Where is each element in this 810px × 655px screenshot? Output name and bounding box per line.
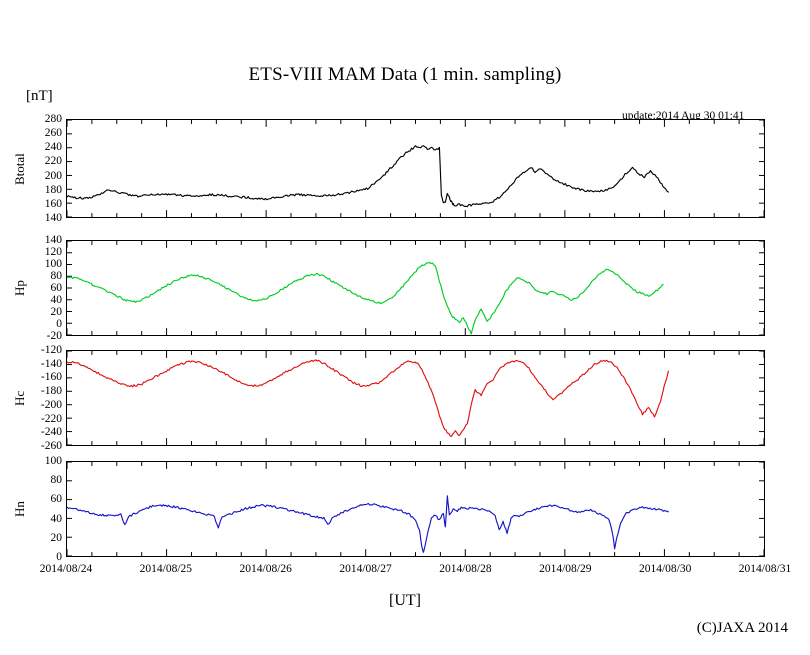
y-tick-label: -260 <box>41 440 66 452</box>
y-tick-label: 280 <box>45 113 66 125</box>
y-axis-ticks-hn: 100806040200 <box>0 461 66 557</box>
trace-hc-svg <box>67 351 764 445</box>
y-tick-label: 220 <box>45 155 66 167</box>
panel-hn <box>66 461 765 557</box>
y-axis-title-hn: Hn <box>12 481 28 537</box>
y-axis-title-hc: Hc <box>12 370 28 426</box>
y-tick-label: -120 <box>41 344 66 356</box>
unit-label: [nT] <box>26 88 53 105</box>
y-tick-label: 60 <box>51 282 67 294</box>
y-tick-label: -220 <box>41 413 66 425</box>
panel-hp <box>66 240 765 336</box>
y-tick-label: 80 <box>51 474 67 486</box>
x-tick-label: 2014/08/24 <box>40 563 92 575</box>
y-tick-label: 260 <box>45 127 66 139</box>
data-trace <box>67 262 663 334</box>
x-tick-label: 2014/08/31 <box>739 563 791 575</box>
page-title: ETS-VIII MAM Data (1 min. sampling) <box>0 64 810 86</box>
y-tick-label: 0 <box>56 551 66 563</box>
y-tick-label: 40 <box>51 294 67 306</box>
mam-data-plot-page: ETS-VIII MAM Data (1 min. sampling) [nT]… <box>0 0 810 655</box>
y-tick-label: -240 <box>41 426 66 438</box>
trace-hn-svg <box>67 462 764 556</box>
trace-btotal-svg <box>67 120 764 217</box>
y-tick-label: 40 <box>51 513 67 525</box>
data-trace <box>67 360 668 437</box>
y-tick-label: 160 <box>45 198 66 210</box>
x-tick-label: 2014/08/25 <box>140 563 192 575</box>
y-axis-title-hp: Hp <box>12 260 28 316</box>
y-tick-label: 60 <box>51 493 67 505</box>
y-tick-label: 80 <box>51 270 67 282</box>
y-tick-label: 120 <box>45 246 66 258</box>
y-axis-ticks-hc: -120-140-160-180-200-220-240-260 <box>0 350 66 446</box>
y-tick-label: 180 <box>45 184 66 196</box>
y-tick-label: -140 <box>41 358 66 370</box>
panel-hc <box>66 350 765 446</box>
trace-hp-svg <box>67 241 764 335</box>
y-tick-label: 100 <box>45 455 66 467</box>
y-tick-label: -180 <box>41 385 66 397</box>
x-tick-label: 2014/08/30 <box>639 563 691 575</box>
y-tick-label: 140 <box>45 234 66 246</box>
y-tick-label: 200 <box>45 170 66 182</box>
x-tick-label: 2014/08/26 <box>240 563 292 575</box>
x-tick-label: 2014/08/27 <box>339 563 391 575</box>
x-axis-label: [UT] <box>0 592 810 610</box>
x-tick-label: 2014/08/29 <box>539 563 591 575</box>
y-tick-label: -200 <box>41 399 66 411</box>
y-tick-label: 0 <box>56 318 66 330</box>
y-tick-label: 140 <box>45 212 66 224</box>
y-axis-title-btotal: Btotal <box>12 141 28 197</box>
y-tick-label: -160 <box>41 371 66 383</box>
data-trace <box>67 146 668 207</box>
panel-btotal <box>66 119 765 218</box>
y-axis-ticks-hp: 140120100806040200-20 <box>0 240 66 336</box>
y-tick-label: 100 <box>45 258 66 270</box>
y-tick-label: -20 <box>47 330 66 342</box>
data-trace <box>67 496 668 552</box>
x-tick-label: 2014/08/28 <box>439 563 491 575</box>
y-axis-ticks-btotal: 280260240220200180160140 <box>0 119 66 218</box>
y-tick-label: 20 <box>51 306 67 318</box>
y-tick-label: 240 <box>45 141 66 153</box>
y-tick-label: 20 <box>51 532 67 544</box>
copyright-notice: (C)JAXA 2014 <box>0 620 810 637</box>
